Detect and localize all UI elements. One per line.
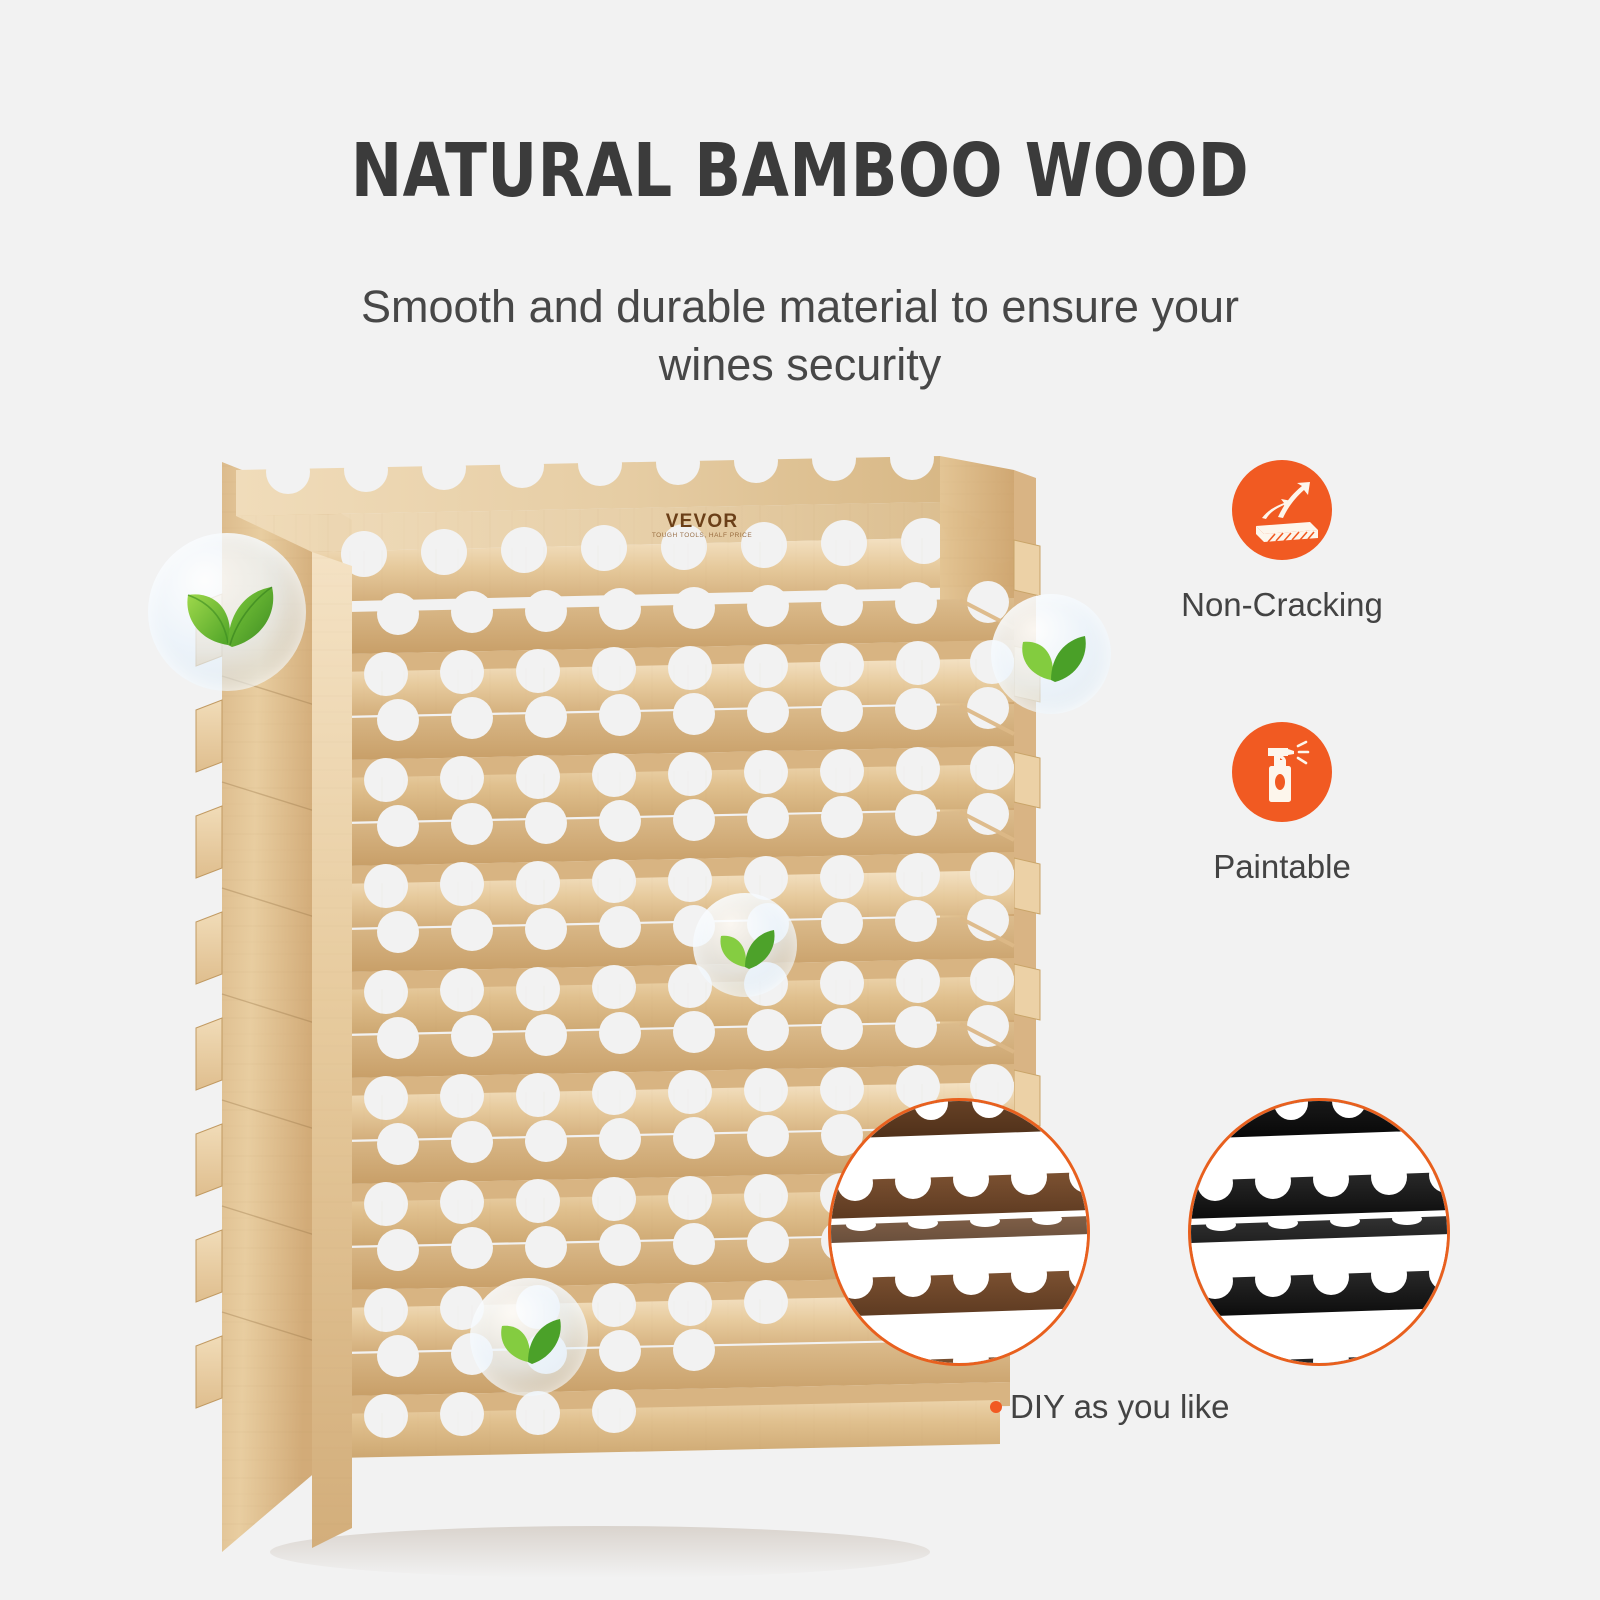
spray-bottle-icon <box>1232 722 1332 822</box>
rack-front-left-post <box>312 552 352 1548</box>
leaf-bubble-center <box>693 893 797 997</box>
feature-label: Paintable <box>1122 848 1442 886</box>
diy-inset-dark-brown <box>828 1098 1090 1366</box>
leaf-icon <box>991 594 1111 714</box>
feature-icon-circle <box>1232 722 1332 822</box>
leaf-icon <box>470 1278 588 1396</box>
bullet-icon <box>990 1401 1002 1413</box>
leaf-icon <box>148 533 306 691</box>
brand-logo-vevor: VEVOR TOUGH TOOLS, HALF PRICE <box>652 511 753 539</box>
leaf-icon <box>693 893 797 997</box>
feature-label: Non-Cracking <box>1122 586 1442 624</box>
leaf-bubble-top-right <box>991 594 1111 714</box>
diy-caption: DIY as you like <box>990 1388 1230 1426</box>
feature-icon-circle <box>1232 460 1332 560</box>
feature-paintable: Paintable <box>1122 722 1442 886</box>
leaf-bubble-bottom <box>470 1278 588 1396</box>
leaf-bubble-top-left <box>148 533 306 691</box>
svg-text:TOUGH TOOLS, HALF PRICE: TOUGH TOOLS, HALF PRICE <box>652 532 753 539</box>
black-rack-closeup <box>1188 1098 1450 1366</box>
rack-top-rail <box>236 436 1023 602</box>
diy-inset-black <box>1188 1098 1450 1366</box>
plank-with-up-arrows-icon <box>1232 460 1332 560</box>
svg-text:VEVOR: VEVOR <box>666 511 739 532</box>
dark-brown-rack-closeup <box>828 1098 1090 1366</box>
feature-non-cracking: Non-Cracking <box>1122 460 1442 624</box>
diy-caption-text: DIY as you like <box>1010 1388 1230 1425</box>
